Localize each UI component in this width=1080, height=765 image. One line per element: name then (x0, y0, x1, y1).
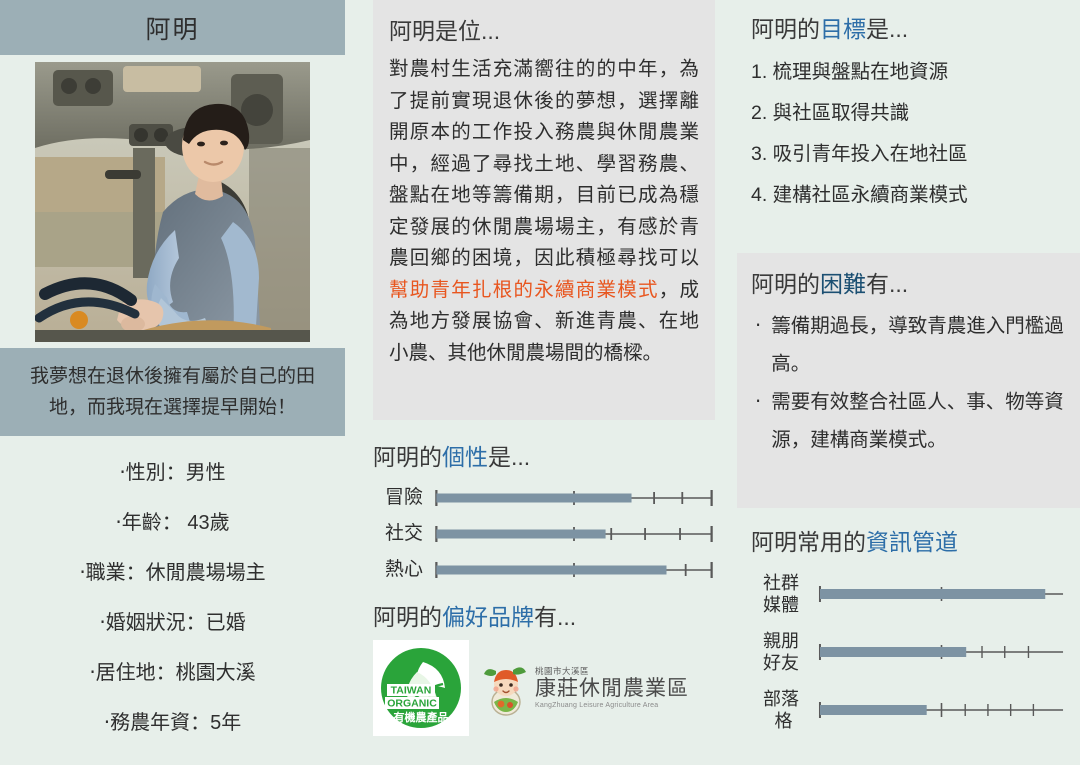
kangzhuang-mascot-icon (483, 660, 529, 716)
channel-slider-row[interactable]: 社群媒體 (751, 565, 1066, 623)
personality-track-social[interactable] (433, 521, 715, 547)
slider-graphic (817, 581, 1066, 607)
bullet-icon: ‧ (755, 307, 761, 383)
about-panel: 阿明是位... 對農村生活充滿嚮往的的中年，為了提前實現退休後的夢想，選擇離開原… (373, 0, 715, 420)
demographic-item: ‧務農年資：5年 (104, 698, 241, 748)
channel-label-social-media: 社群媒體 (751, 572, 817, 616)
persona-quote-band: 我夢想在退休後擁有屬於自己的田地，而我現在選擇提早開始！ (0, 348, 345, 436)
personality-slider-row[interactable]: 熱心 (373, 552, 715, 588)
demographic-item: ‧性別：男性 (119, 448, 225, 498)
channel-label-friends-family: 親朋好友 (751, 630, 817, 674)
brands-title-prefix: 阿明的 (373, 604, 442, 630)
personality-label-enthusiasm: 熱心 (373, 559, 433, 581)
slider-graphic (433, 485, 715, 511)
pain-point-item: ‧ 需要有效整合社區人、事、物等資源，建構商業模式。 (751, 383, 1066, 459)
goals-section: 阿明的目標是... 1. 梳理與盤點在地資源 2. 與社區取得共識 3. 吸引青… (737, 12, 1080, 216)
persona-demographics-list: ‧性別：男性 ‧年齡： 43歲 ‧職業：休閒農場場主 ‧婚姻狀況：已婚 ‧居住地… (0, 448, 345, 748)
personality-title-accent: 個性 (442, 444, 488, 470)
goal-item: 3. 吸引青年投入在地社區 (751, 134, 1066, 175)
personality-title: 阿明的個性是... (373, 440, 715, 474)
channels-title-prefix: 阿明常用的 (751, 529, 866, 555)
channel-track-blog[interactable] (817, 697, 1066, 723)
about-title: 阿明是位... (389, 14, 699, 48)
persona-quote: 我夢想在退休後擁有屬於自己的田地，而我現在選擇提早開始！ (14, 361, 331, 423)
bullet-icon: ‧ (755, 383, 761, 459)
slider-graphic (817, 639, 1066, 665)
channels-title: 阿明常用的資訊管道 (751, 525, 1066, 559)
personality-section: 阿明的個性是... 冒險 社交 (373, 440, 715, 588)
pain-points-panel: 阿明的困難有... ‧ 籌備期過長，導致青農進入門檻過高。 ‧ 需要有效整合社區… (737, 253, 1080, 508)
goal-item: 4. 建構社區永續商業模式 (751, 175, 1066, 216)
goals-title-suffix: 是... (866, 16, 908, 42)
brands-title-accent: 偏好品牌 (442, 604, 534, 630)
pain-point-text: 需要有效整合社區人、事、物等資源，建構商業模式。 (771, 383, 1066, 459)
personality-slider-row[interactable]: 冒險 (373, 480, 715, 516)
pain-point-item: ‧ 籌備期過長，導致青農進入門檻過高。 (751, 307, 1066, 383)
goals-title: 阿明的目標是... (751, 12, 1066, 46)
channel-slider-row[interactable]: 部落 格 (751, 681, 1066, 739)
channel-slider-row[interactable]: 親朋好友 (751, 623, 1066, 681)
slider-graphic (433, 521, 715, 547)
kangzhuang-english-name: KangZhuang Leisure Agriculture Area (535, 702, 689, 709)
left-column: 阿明 (0, 0, 345, 765)
personality-title-prefix: 阿明的 (373, 444, 442, 470)
persona-name-band: 阿明 (0, 0, 345, 55)
kangzhuang-name: 康莊休閒農業區 (535, 678, 689, 699)
svg-text:ORGANIC: ORGANIC (387, 698, 437, 710)
about-body: 對農村生活充滿嚮往的的中年，為了提前實現退休後的夢想，選擇離開原本的工作投入務農… (389, 54, 699, 369)
pain-points-title: 阿明的困難有... (751, 267, 1066, 301)
taiwan-organic-logo: TAIWAN ORGANIC 有機農產品 (373, 640, 469, 736)
goal-item: 2. 與社區取得共識 (751, 93, 1066, 134)
pain-title-suffix: 有... (866, 271, 908, 297)
goal-item: 1. 梳理與盤點在地資源 (751, 52, 1066, 93)
pain-title-accent: 困難 (820, 271, 866, 297)
goals-title-accent: 目標 (820, 16, 866, 42)
persona-card-page: 阿明 (0, 0, 1080, 765)
persona-photo-illustration (35, 62, 310, 342)
brands-section: 阿明的偏好品牌有... TAIWAN ORGANIC 有機農產品 (373, 600, 715, 736)
kangzhuang-logo: 桃園市大溪區 康莊休閒農業區 KangZhuang Leisure Agricu… (483, 660, 689, 716)
brand-logo-list: TAIWAN ORGANIC 有機農產品 (373, 640, 715, 736)
slider-graphic (433, 557, 715, 583)
persona-photo (35, 62, 310, 342)
demographic-item: ‧職業：休閒農場場主 (79, 548, 265, 598)
personality-label-social: 社交 (373, 523, 433, 545)
about-body-part1: 對農村生活充滿嚮往的的中年，為了提前實現退休後的夢想，選擇離開原本的工作投入務農… (389, 58, 699, 269)
pain-title-prefix: 阿明的 (751, 271, 820, 297)
organic-leaf-icon: TAIWAN ORGANIC 有機農產品 (377, 644, 465, 732)
channel-track-friends-family[interactable] (817, 639, 1066, 665)
kangzhuang-wordmark: 桃園市大溪區 康莊休閒農業區 KangZhuang Leisure Agricu… (535, 667, 689, 709)
svg-text:TAIWAN: TAIWAN (391, 685, 432, 697)
personality-slider-row[interactable]: 社交 (373, 516, 715, 552)
brands-title-suffix: 有... (534, 604, 576, 630)
personality-title-suffix: 是... (488, 444, 530, 470)
demographic-item: ‧婚姻狀況：已婚 (99, 598, 245, 648)
information-channels-section: 阿明常用的資訊管道 社群媒體 親朋好友 (737, 525, 1080, 739)
demographic-item: ‧年齡： 43歲 (115, 498, 229, 548)
channels-title-accent: 資訊管道 (866, 529, 958, 555)
personality-track-enthusiasm[interactable] (433, 557, 715, 583)
persona-name: 阿明 (145, 10, 199, 46)
personality-label-adventure: 冒險 (373, 487, 433, 509)
svg-text:有機農產品: 有機農產品 (394, 710, 449, 724)
channel-track-social-media[interactable] (817, 581, 1066, 607)
slider-graphic (817, 697, 1066, 723)
pain-point-text: 籌備期過長，導致青農進入門檻過高。 (771, 307, 1066, 383)
kangzhuang-region: 桃園市大溪區 (535, 667, 689, 676)
demographic-item: ‧居住地：桃園大溪 (89, 648, 255, 698)
personality-track-adventure[interactable] (433, 485, 715, 511)
goals-title-prefix: 阿明的 (751, 16, 820, 42)
brands-title: 阿明的偏好品牌有... (373, 600, 715, 634)
channel-label-blog: 部落 格 (751, 688, 817, 732)
about-highlight: 幫助青年扎根的永續商業模式 (389, 279, 659, 301)
